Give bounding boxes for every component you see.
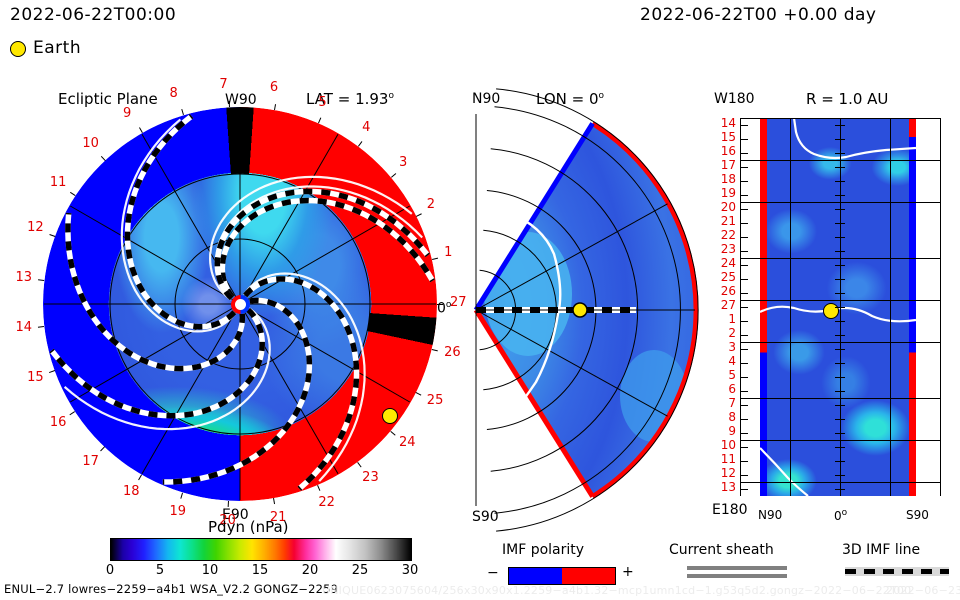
header-datetime-right: 2022-06-22T00 +0.00 day (640, 7, 876, 24)
map-gridline-vertical (940, 118, 941, 496)
ecliptic-azimuth-tick: 7 (219, 78, 227, 91)
map-y-tickmark-center (835, 265, 845, 266)
ecliptic-azimuth-tick: 19 (169, 505, 186, 518)
map-y-tickmark-center (835, 139, 845, 140)
map-y-tickmark (740, 181, 748, 182)
earth-legend: Earth (10, 40, 81, 57)
ecliptic-azimuth-tickmark (227, 501, 228, 507)
map-bottom-label: E180 (712, 503, 748, 517)
map-y-tick-label: 17 (716, 159, 736, 171)
map-y-tick-label: 10 (716, 439, 736, 451)
map-y-tick-label: 15 (716, 131, 736, 143)
imf-polarity-plus-label: + (622, 565, 634, 579)
colorbar-tick-label: 5 (156, 564, 164, 577)
map-y-tick-label: 19 (716, 187, 736, 199)
map-y-tickmark-center (835, 237, 845, 238)
map-y-tickmark (740, 153, 748, 154)
map-y-tickmark (740, 237, 748, 238)
map-y-tickmark-center (835, 461, 845, 462)
map-x-tick-zero: 0o (834, 509, 847, 522)
ecliptic-azimuth-tick: 17 (82, 455, 99, 468)
ecliptic-azimuth-tick: 16 (50, 416, 67, 429)
map-y-tick-label: 14 (716, 117, 736, 129)
ecliptic-plane-plot[interactable] (44, 108, 436, 500)
ecliptic-azimuth-tick: 26 (444, 346, 461, 359)
map-y-tick-label: 13 (716, 481, 736, 493)
ecliptic-azimuth-tick: 3 (399, 156, 407, 169)
map-y-tick-label: 11 (716, 453, 736, 465)
earth-marker-meridional (573, 303, 587, 317)
earth-legend-label: Earth (33, 40, 81, 57)
map-y-tickmark (740, 349, 748, 350)
ecliptic-azimuth-tick: 8 (169, 87, 177, 100)
map-y-tickmark-center (835, 181, 845, 182)
map-y-tick-label: 8 (716, 411, 736, 423)
map-y-tickmark-center (835, 419, 845, 420)
current-sheath-legend-title: Current sheath (669, 543, 774, 557)
ecliptic-azimuth-tick: 5 (318, 96, 326, 109)
map-y-tickmark-center (835, 321, 845, 322)
ecliptic-azimuth-tick: 12 (27, 221, 44, 234)
map-y-tickmark-center (835, 433, 845, 434)
imf-line-swatch (845, 569, 949, 574)
map-title: R = 1.0 AU (806, 92, 888, 107)
map-y-tick-label: 18 (716, 173, 736, 185)
map-y-tickmark-center (835, 377, 845, 378)
colorbar-tick-label: 30 (402, 564, 419, 577)
map-y-tickmark-center (835, 489, 845, 490)
map-y-tickmark (740, 335, 748, 336)
footer-left-text: ENUL−2.7 lowres−2259−a4b1 WSA_V2.2 GONGZ… (4, 584, 338, 596)
map-y-tick-label: 1 (716, 313, 736, 325)
ecliptic-azimuth-tick: 14 (15, 321, 32, 334)
colorbar (110, 538, 412, 561)
map-y-tick-label: 2 (716, 327, 736, 339)
map-y-tickmark-center (835, 447, 845, 448)
map-y-tickmark (740, 447, 748, 448)
ecliptic-azimuth-tick: 18 (123, 485, 140, 498)
map-y-tickmark-center (835, 153, 845, 154)
ecliptic-azimuth-tick: 1 (444, 246, 452, 259)
map-y-tickmark (740, 405, 748, 406)
map-y-tickmark (740, 363, 748, 364)
sun-marker (231, 295, 250, 314)
map-y-tickmark-center (835, 363, 845, 364)
imf-polarity-minus-label: − (487, 566, 499, 580)
ecliptic-panel-title: Ecliptic Plane (58, 92, 158, 107)
earth-marker-ecliptic (382, 408, 398, 424)
ecliptic-azimuth-tick: 25 (427, 394, 444, 407)
colorbar-tick-label: 10 (202, 564, 219, 577)
map-y-tick-label: 26 (716, 285, 736, 297)
imf-polarity-legend-title: IMF polarity (502, 543, 584, 557)
colorbar-tick-label: 20 (302, 564, 319, 577)
header-datetime-left: 2022-06-22T00:00 (10, 7, 176, 24)
map-y-tickmark (740, 251, 748, 252)
map-y-tickmark (740, 125, 748, 126)
map-y-tickmark-center (835, 349, 845, 350)
ecliptic-azimuth-tick: 22 (318, 496, 335, 509)
ecliptic-azimuth-tick: 24 (399, 436, 416, 449)
map-y-tickmark (740, 167, 748, 168)
colorbar-tick-label: 25 (352, 564, 369, 577)
ecliptic-azimuth-tick: 9 (123, 107, 131, 120)
map-y-tick-label: 6 (716, 383, 736, 395)
map-x-tick-zero-value: 0 (834, 509, 842, 523)
ecliptic-lat-degree: o (388, 91, 394, 101)
map-y-tick-label: 23 (716, 243, 736, 255)
map-y-tick-label: 27 (716, 299, 736, 311)
current-sheath-swatch-bottom (687, 574, 787, 578)
map-y-tick-label: 3 (716, 341, 736, 353)
colorbar-tick-label: 15 (252, 564, 269, 577)
map-y-tickmark (740, 307, 748, 308)
map-y-tickmark-center (835, 195, 845, 196)
map-y-tickmark (740, 209, 748, 210)
current-sheath-swatch-top (687, 566, 787, 570)
map-y-tickmark (740, 391, 748, 392)
map-y-tickmark-center (835, 209, 845, 210)
map-y-tickmark (740, 475, 748, 476)
map-y-tickmark (740, 223, 748, 224)
earth-marker-icon (10, 41, 26, 57)
map-y-tickmark-center (835, 279, 845, 280)
imf-polarity-swatch (508, 567, 616, 585)
map-y-tickmark (740, 279, 748, 280)
map-y-tick-label: 20 (716, 201, 736, 213)
map-y-tickmark (740, 461, 748, 462)
map-y-tick-label: 7 (716, 397, 736, 409)
footer-watermark: UNIQUE0623075604/256x30x90x1.2259−a4b1.3… (322, 585, 911, 596)
map-y-tickmark-center (835, 167, 845, 168)
map-y-tickmark (740, 293, 748, 294)
map-y-tickmark (740, 265, 748, 266)
map-x-tick-n90: N90 (758, 509, 782, 521)
map-y-tickmark (740, 195, 748, 196)
map-y-tickmark (740, 433, 748, 434)
ecliptic-azimuth-tick: 6 (270, 81, 278, 94)
map-y-tick-label: 12 (716, 467, 736, 479)
map-y-tickmark (740, 139, 748, 140)
map-y-tickmark-center (835, 125, 845, 126)
map-gridline-vertical (890, 118, 891, 496)
colorbar-tick-label: 0 (106, 564, 114, 577)
map-y-tickmark-center (835, 307, 845, 308)
map-y-tick-label: 16 (716, 145, 736, 157)
map-y-tickmark-center (835, 405, 845, 406)
ecliptic-azimuth-tickmark (38, 279, 44, 281)
map-x-tick-s90: S90 (906, 509, 929, 521)
meridional-fast-stream (484, 232, 572, 356)
map-y-tick-label: 5 (716, 369, 736, 381)
ecliptic-azimuth-tickmark (228, 101, 229, 107)
map-y-tickmark (740, 377, 748, 378)
map-y-tickmark (740, 321, 748, 322)
map-y-tick-label: 21 (716, 215, 736, 227)
footer-watermark-date: 2022−06−23 (886, 585, 960, 596)
map-y-tick-label: 4 (716, 355, 736, 367)
map-y-tick-label: 9 (716, 425, 736, 437)
map-y-tickmark-center (835, 293, 845, 294)
map-y-tick-label: 22 (716, 229, 736, 241)
map-y-tickmark-center (835, 391, 845, 392)
map-top-label: W180 (714, 92, 755, 106)
map-y-tickmark-center (835, 335, 845, 336)
map-y-tick-label: 25 (716, 271, 736, 283)
ecliptic-azimuth-tick: 13 (15, 271, 32, 284)
ecliptic-azimuth-tick: 2 (427, 198, 435, 211)
meridional-plot[interactable] (462, 104, 712, 524)
ecliptic-azimuth-tick: 10 (82, 137, 99, 150)
map-y-tickmark-center (835, 223, 845, 224)
map-y-tick-label: 24 (716, 257, 736, 269)
meridional-lon-degree: o (599, 91, 605, 101)
map-y-tickmark (740, 489, 748, 490)
map-y-tickmark (740, 419, 748, 420)
ecliptic-azimuth-tick: 15 (27, 371, 44, 384)
map-y-tickmark-center (835, 475, 845, 476)
colorbar-title: Pdyn (nPa) (208, 520, 289, 535)
earth-marker-map (823, 303, 839, 319)
map-x-tick-zero-degree: o (842, 508, 848, 518)
ecliptic-azimuth-tick: 4 (362, 121, 370, 134)
ecliptic-azimuth-tickmark (437, 304, 443, 305)
imf-line-legend-title: 3D IMF line (842, 543, 920, 557)
ecliptic-azimuth-tick: 23 (362, 471, 379, 484)
map-gridline-vertical (790, 118, 791, 496)
ecliptic-azimuth-tick: 11 (50, 176, 67, 189)
map-y-tickmark-center (835, 251, 845, 252)
